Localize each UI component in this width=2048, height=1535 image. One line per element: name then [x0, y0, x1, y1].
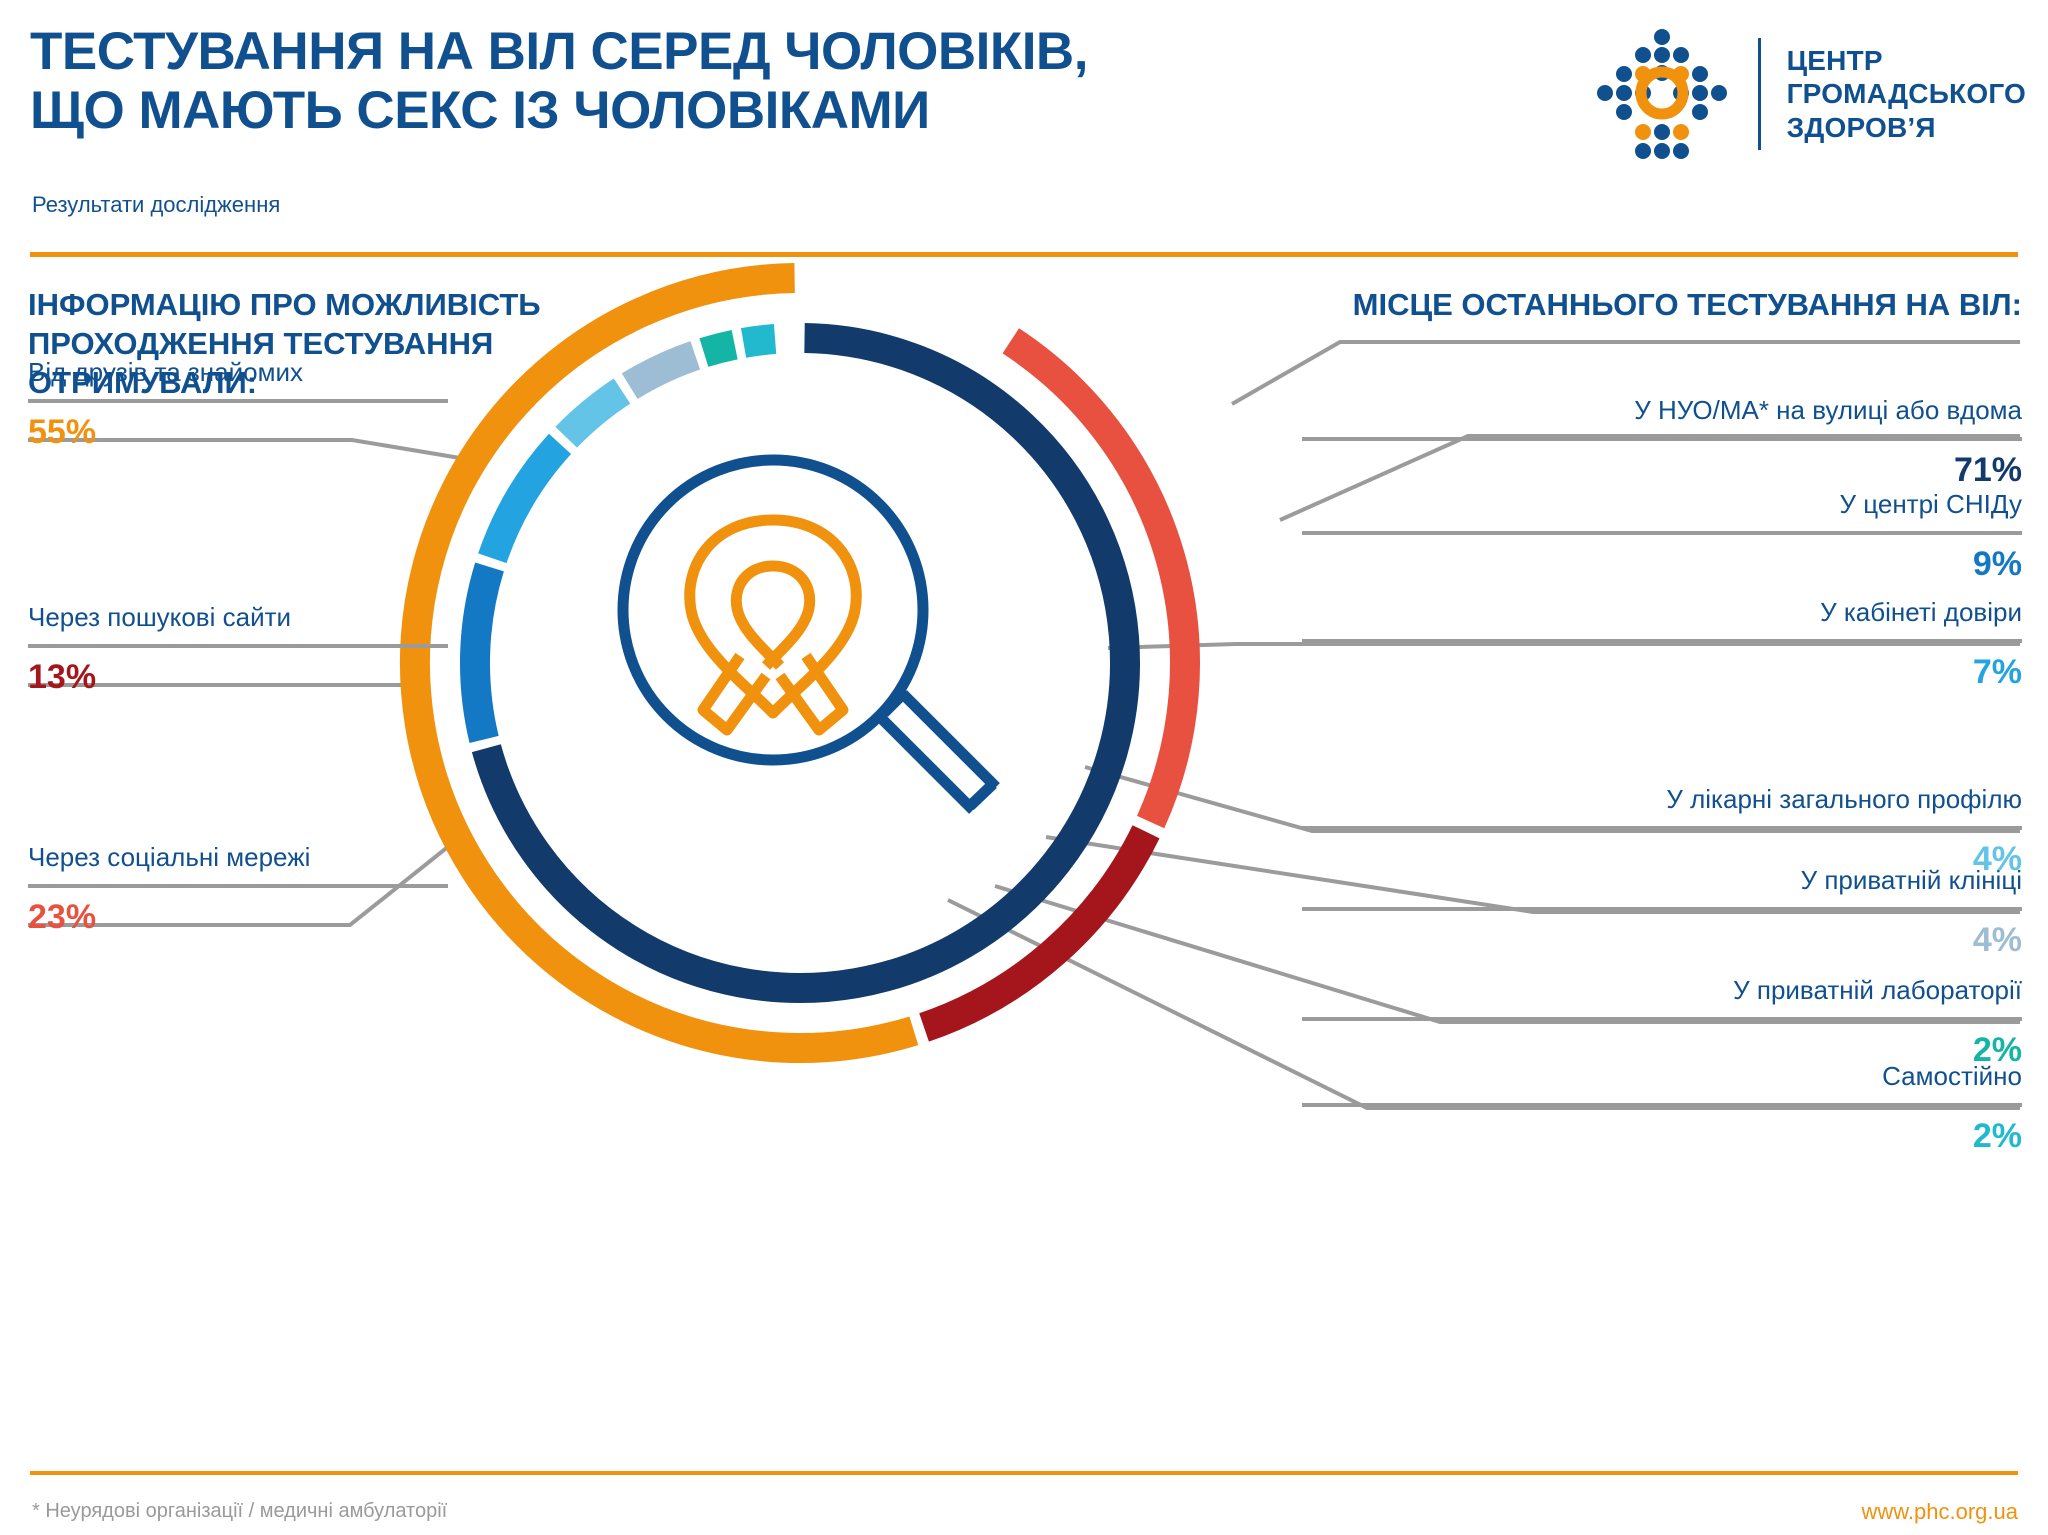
- label-friends-rule: [28, 399, 448, 403]
- label-ngo-street-home-pct: 71%: [1302, 453, 2022, 487]
- label-private-lab-text: У приватній лабораторії: [1302, 976, 2022, 1005]
- label-aids-center-rule: [1302, 531, 2022, 535]
- label-social-networks-pct: 23%: [28, 900, 448, 934]
- footer-divider-rule: [30, 1471, 2018, 1475]
- right-section-heading: МІСЦЕ ОСТАННЬОГО ТЕСТУВАННЯ НА ВІЛ:: [1322, 286, 2022, 325]
- label-search-sites-rule: [28, 644, 448, 648]
- label-self-testing: Самостійно 2%: [1302, 1062, 2022, 1153]
- double-donut-chart: [395, 258, 1205, 1068]
- label-private-lab: У приватній лабораторії 2%: [1302, 976, 2022, 1067]
- label-general-hospital-rule: [1302, 826, 2022, 830]
- label-private-clinic-rule: [1302, 907, 2022, 911]
- footnote-text: * Неурядові організації / медичні амбула…: [32, 1500, 447, 1523]
- logo-wordmark-line-1: ЦЕНТР: [1787, 44, 2026, 77]
- outer-ring-group: [415, 278, 1185, 1048]
- label-trust-room-text: У кабінеті довіри: [1302, 598, 2022, 627]
- logo-wordmark-line-2: ГРОМАДСЬКОГО: [1787, 77, 2026, 110]
- label-trust-room-rule: [1302, 639, 2022, 643]
- label-friends: Від друзів та знайомих 55%: [28, 358, 448, 449]
- logo-wordmark-line-3: ЗДОРОВ’Я: [1787, 111, 2026, 144]
- inner-arc-aidscenter: [475, 567, 490, 740]
- label-self-testing-rule: [1302, 1103, 2022, 1107]
- inner-ring-group: [475, 338, 1125, 988]
- outer-arc-darkred: [924, 832, 1146, 1028]
- label-general-hospital: У лікарні загального профілю 4%: [1302, 785, 2022, 876]
- page-subtitle: Результати дослідження: [32, 192, 280, 218]
- organisation-logo: ЦЕНТР ГРОМАДСЬКОГО ЗДОРОВ’Я: [1592, 24, 2026, 164]
- website-url[interactable]: www.phc.org.ua: [1861, 1499, 2018, 1525]
- logo-wordmark: ЦЕНТР ГРОМАДСЬКОГО ЗДОРОВ’Я: [1787, 44, 2026, 143]
- outer-arc-orange: [415, 278, 914, 1048]
- label-ngo-street-home-rule: [1302, 437, 2022, 441]
- inner-arc-privateclinic: [630, 355, 696, 386]
- label-private-clinic-pct: 4%: [1302, 923, 2022, 957]
- inner-arc-self: [744, 339, 776, 343]
- label-private-clinic-text: У приватній клініці: [1302, 866, 2022, 895]
- inner-arc-hospital: [566, 391, 622, 437]
- label-ngo-street-home-text: У НУО/МА* на вулиці або вдома: [1302, 396, 2022, 425]
- label-search-sites-pct: 13%: [28, 660, 448, 694]
- inner-arc-privatelab: [704, 345, 735, 353]
- label-social-networks-text: Через соціальні мережі: [28, 843, 448, 872]
- label-ngo-street-home: У НУО/МА* на вулиці або вдома 71%: [1302, 396, 2022, 487]
- label-private-lab-rule: [1302, 1017, 2022, 1021]
- label-general-hospital-text: У лікарні загального профілю: [1302, 785, 2022, 814]
- label-self-testing-pct: 2%: [1302, 1119, 2022, 1153]
- label-trust-room-pct: 7%: [1302, 655, 2022, 689]
- phc-logo-icon: [1592, 24, 1732, 164]
- label-search-sites-text: Через пошукові сайти: [28, 603, 448, 632]
- label-aids-center-pct: 9%: [1302, 547, 2022, 581]
- label-social-networks-rule: [28, 884, 448, 888]
- page-title-line-1: ТЕСТУВАННЯ НА ВІЛ СЕРЕД ЧОЛОВІКІВ,: [30, 22, 1150, 81]
- label-aids-center: У центрі СНІДу 9%: [1302, 490, 2022, 581]
- label-self-testing-text: Самостійно: [1302, 1062, 2022, 1091]
- label-trust-room: У кабінеті довіри 7%: [1302, 598, 2022, 689]
- label-private-clinic: У приватній клініці 4%: [1302, 866, 2022, 957]
- label-friends-text: Від друзів та знайомих: [28, 358, 448, 387]
- header-divider-rule: [30, 252, 2018, 257]
- label-social-networks: Через соціальні мережі 23%: [28, 843, 448, 934]
- infographic-page: ТЕСТУВАННЯ НА ВІЛ СЕРЕД ЧОЛОВІКІВ, ЩО МА…: [0, 0, 2048, 1535]
- page-title-line-2: ЩО МАЮТЬ СЕКС ІЗ ЧОЛОВІКАМИ: [30, 81, 1150, 140]
- page-title: ТЕСТУВАННЯ НА ВІЛ СЕРЕД ЧОЛОВІКІВ, ЩО МА…: [30, 22, 1150, 141]
- label-search-sites: Через пошукові сайти 13%: [28, 603, 448, 694]
- inner-arc-trustroom: [492, 444, 560, 558]
- label-friends-pct: 55%: [28, 415, 448, 449]
- magnifier-with-aids-ribbon-icon: [623, 460, 996, 810]
- label-aids-center-text: У центрі СНІДу: [1302, 490, 2022, 519]
- logo-divider: [1758, 38, 1761, 150]
